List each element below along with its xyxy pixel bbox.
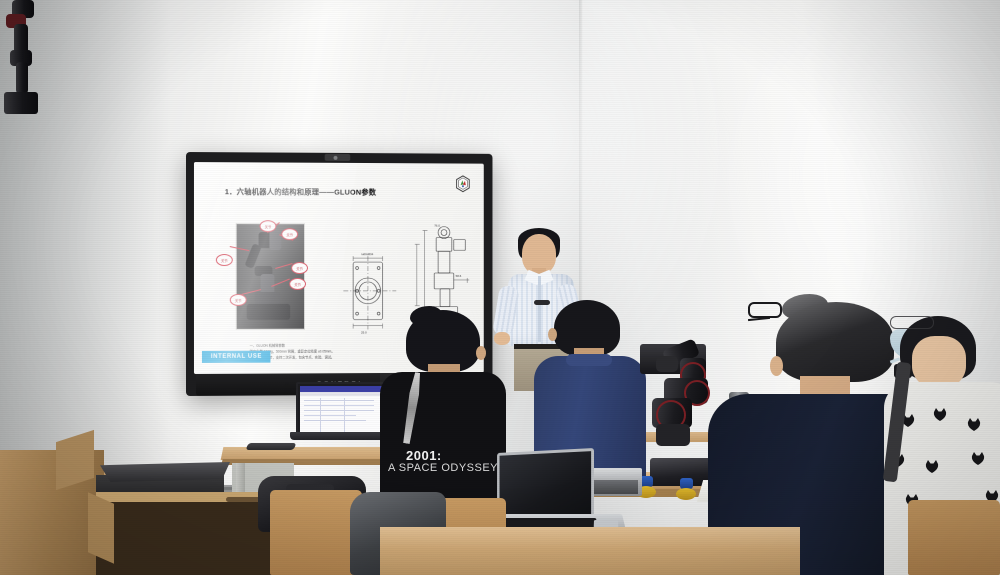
cat-print-icon — [966, 418, 982, 432]
callout-badge: 关节 — [291, 262, 308, 274]
laptop-keyboard-base[interactable] — [290, 432, 388, 440]
robot-photo-panel — [236, 223, 305, 330]
callout-badge: 关节 — [260, 220, 277, 232]
laptop-with-spreadsheet[interactable] — [290, 382, 388, 444]
callout-badge: 关节 — [230, 294, 247, 306]
glasses-icon — [748, 302, 782, 318]
laptop-window-toolbar — [300, 392, 382, 396]
laptop-screen-ui — [300, 386, 382, 434]
remote-control[interactable] — [246, 443, 297, 450]
internal-use-badge: INTERNAL USE — [202, 351, 271, 363]
cardboard-box-flap — [88, 492, 114, 564]
attendee-hair — [776, 302, 894, 382]
cat-print-icon — [924, 460, 940, 474]
svg-text:58.6: 58.6 — [456, 274, 462, 278]
display-webcam-icon — [325, 154, 351, 161]
attendee-ear — [476, 346, 486, 360]
svg-text:76.0: 76.0 — [434, 224, 440, 228]
macbook-screen — [497, 448, 594, 524]
callout-badge: 关节 — [216, 254, 233, 266]
callout-badge: 关节 — [289, 278, 306, 290]
hexagon-brand-logo-icon — [456, 175, 471, 192]
tshirt-text-line1: 2001: — [406, 448, 442, 463]
suction-cup — [676, 488, 696, 500]
dark-equipment-top-plate — [100, 462, 230, 482]
glasses-icon — [890, 316, 934, 329]
svg-text:\u00d834: \u00d834 — [361, 252, 374, 256]
polo-collar — [566, 354, 612, 366]
classroom-scene: 1．六轴机器人的结构和原理——GLUON参数 — [0, 0, 1000, 575]
svg-text:25.0: 25.0 — [361, 330, 367, 334]
laptop-screen — [296, 382, 386, 438]
attendee-hair — [406, 310, 480, 372]
attendee-ear — [770, 356, 783, 376]
callout-badge: 关节 — [281, 228, 298, 240]
attendee-face — [912, 336, 966, 388]
desk-foreground — [380, 527, 800, 575]
wooden-chair-back[interactable] — [270, 490, 362, 575]
glasses-icon — [534, 300, 550, 305]
wooden-chair-back[interactable] — [908, 500, 1000, 575]
cat-print-icon — [970, 452, 986, 466]
slide-title: 1．六轴机器人的结构和原理——GLUON参数 — [225, 186, 376, 198]
attendee-ear — [548, 328, 557, 341]
cat-print-icon — [932, 408, 948, 422]
